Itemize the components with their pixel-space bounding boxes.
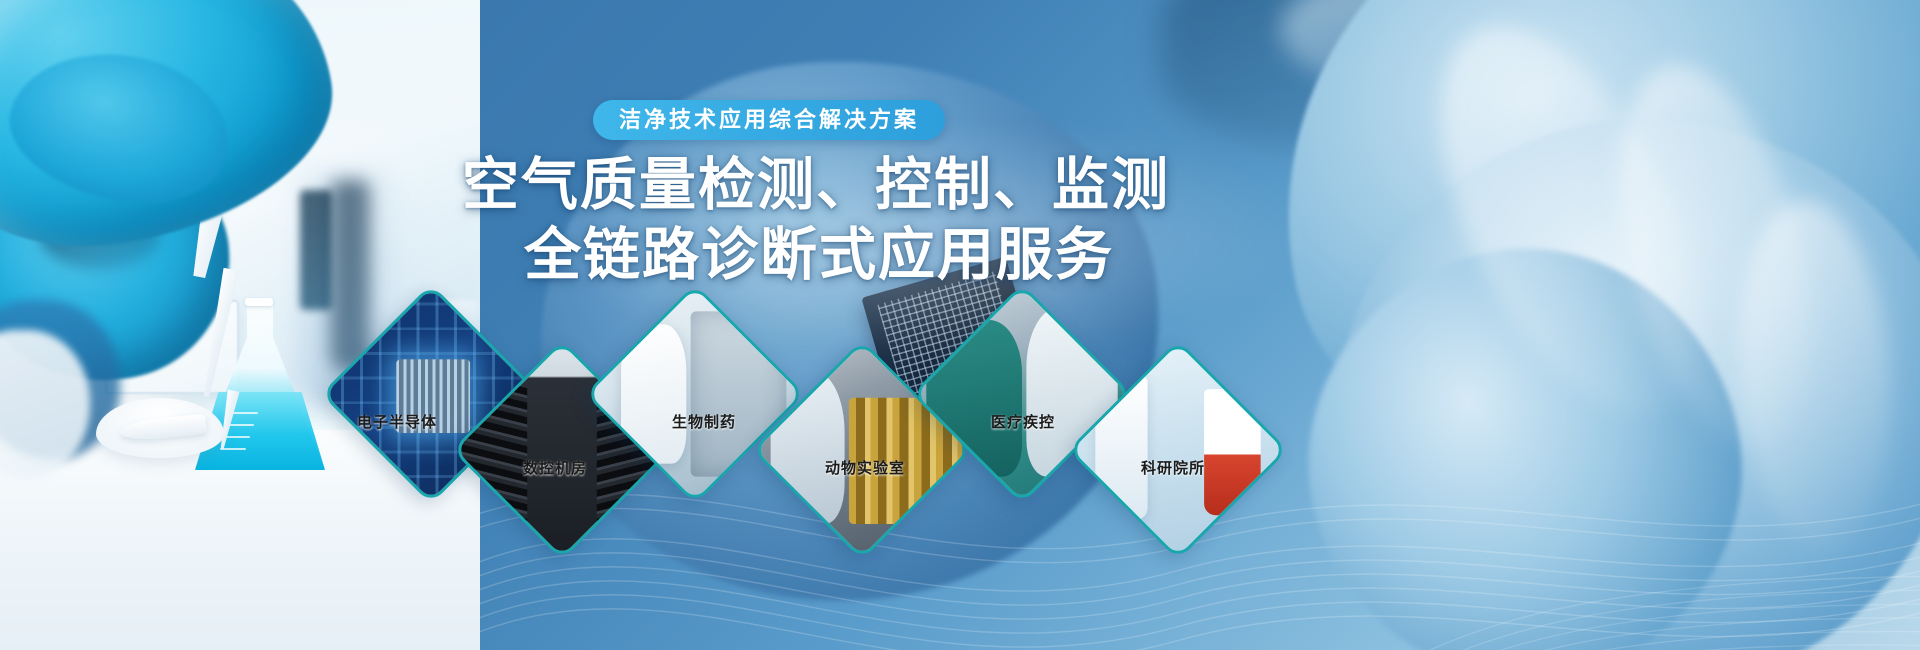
industry-card-label-biopharmaceutical: 生物制药 (672, 411, 736, 432)
industry-card-label-cnc-machine-room: 数控机房 (523, 457, 587, 478)
industry-card-label-electronic-semiconductor: 电子半导体 (357, 411, 437, 432)
hero-banner: 洁净技术应用综合解决方案 空气质量检测、控制、监测 全链路诊断式应用服务 电子半… (0, 0, 1920, 650)
industry-card-label-medical-disease-control: 医疗疾控 (991, 411, 1055, 432)
industry-card-label-animal-laboratory: 动物实验室 (825, 457, 905, 478)
industry-card-label-research-institute: 科研院所 (1141, 457, 1205, 478)
industry-card-row: 电子半导体 数控机房 生物制药 动物实验室 医疗疾控 科研院所 (0, 0, 1920, 650)
